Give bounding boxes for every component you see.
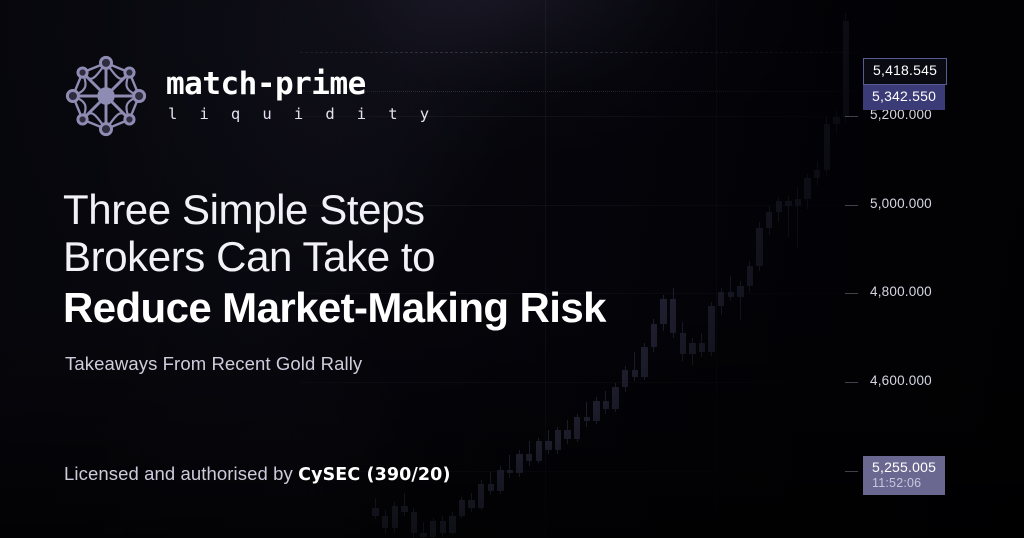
headline-line-3: Reduce Market-Making Risk <box>63 284 606 331</box>
page-title: Three Simple Steps Brokers Can Take to R… <box>63 186 606 331</box>
axis-label: 4,800.000 <box>870 284 932 299</box>
axis-tick <box>845 471 858 472</box>
brand-logo[interactable]: match-prime l i q u i d i t y <box>60 48 435 144</box>
axis-tick <box>845 205 858 206</box>
subtitle: Takeaways From Recent Gold Rally <box>65 353 362 375</box>
license-regulator: CySEC (390/20) <box>298 465 450 485</box>
axis-label: 5,000.000 <box>870 196 932 211</box>
axis-tick <box>845 293 858 294</box>
axis-tick <box>845 382 858 383</box>
cursor-price-value: 5,255.005 <box>872 459 936 475</box>
promo-banner: 5,200.0005,000.0004,800.0004,600.0004,40… <box>0 0 1024 538</box>
axis-label: 4,600.000 <box>870 373 932 388</box>
last-price-tag: 5,418.545 <box>863 58 947 85</box>
network-node-star-icon <box>60 48 152 144</box>
bid-price-tag: 5,342.550 <box>863 85 945 110</box>
axis-tick <box>845 116 858 117</box>
headline-line-2: Brokers Can Take to <box>63 233 435 280</box>
cursor-time-value: 11:52:06 <box>872 476 936 492</box>
brand-wordmark: match-prime l i q u i d i t y <box>166 69 435 124</box>
brand-tagline: l i q u i d i t y <box>168 105 435 123</box>
cursor-price-tag: 5,255.005 11:52:06 <box>863 456 945 495</box>
brand-name: match-prime <box>166 69 435 101</box>
license-statement: Licensed and authorised by CySEC (390/20… <box>64 463 451 485</box>
headline-line-1: Three Simple Steps <box>63 186 425 233</box>
license-prefix: Licensed and authorised by <box>64 463 298 484</box>
